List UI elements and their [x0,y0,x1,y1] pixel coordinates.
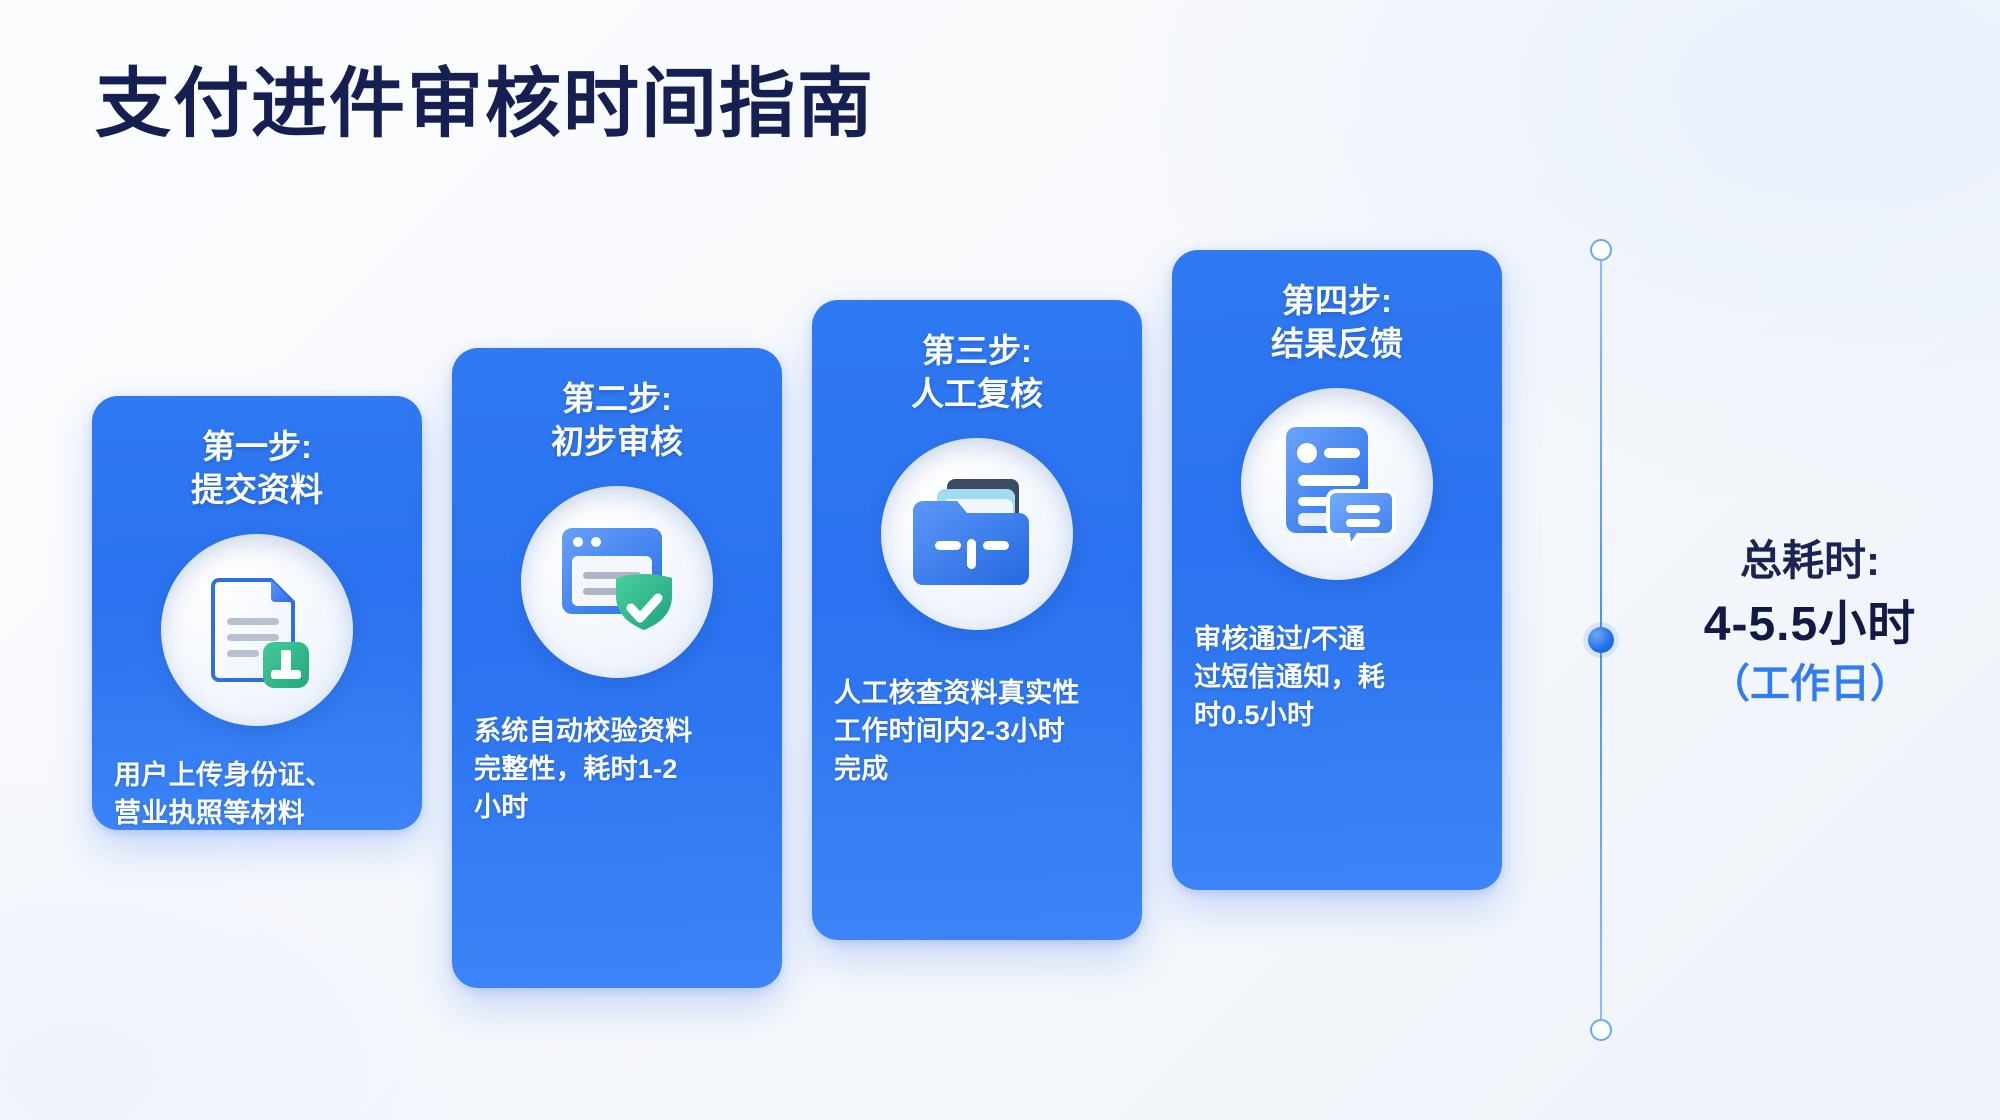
total-duration-value: 4-5.5小时 [1660,594,1960,655]
step-4-title: 第四步: 结果反馈 [1194,280,1480,366]
total-duration-panel: 总耗时: 4-5.5小时 （工作日） [1660,535,1960,710]
document-message-icon [1241,388,1433,580]
step-1-title: 第一步: 提交资料 [114,426,400,512]
step-3-body: 人工核查资料真实性 工作时间内2-3小时 完成 [834,674,1120,789]
window-verified-icon [521,486,713,678]
total-duration-note: （工作日） [1660,659,1960,710]
step-4-body: 审核通过/不通 过短信通知，耗 时0.5小时 [1194,620,1480,735]
timeline-axis [1600,250,1602,1030]
document-upload-icon [161,534,353,726]
page-title: 支付进件审核时间指南 [95,42,875,152]
infographic-canvas: 支付进件审核时间指南 第一步: 提交资料 [0,0,2000,1120]
timeline-node-end-icon [1590,1019,1612,1041]
total-duration-label: 总耗时: [1660,535,1960,588]
step-card-2[interactable]: 第二步: 初步审核 系统 [452,348,782,988]
step-card-4[interactable]: 第四步: 结果反馈 [1172,250,1502,890]
step-3-title: 第三步: 人工复核 [834,330,1120,416]
step-1-body: 用户上传身份证、 营业执照等材料 [114,756,400,833]
folder-files-icon [881,438,1073,630]
step-2-title: 第二步: 初步审核 [474,378,760,464]
step-card-1[interactable]: 第一步: 提交资料 [92,396,422,830]
step-card-3[interactable]: 第三步: 人工复核 人工核查资料真实性 工作时间内2-3小时 完成 [812,300,1142,940]
timeline-node-start-icon [1590,239,1612,261]
timeline-node-current-icon [1588,627,1614,653]
step-2-body: 系统自动校验资料 完整性，耗时1-2 小时 [474,712,760,827]
